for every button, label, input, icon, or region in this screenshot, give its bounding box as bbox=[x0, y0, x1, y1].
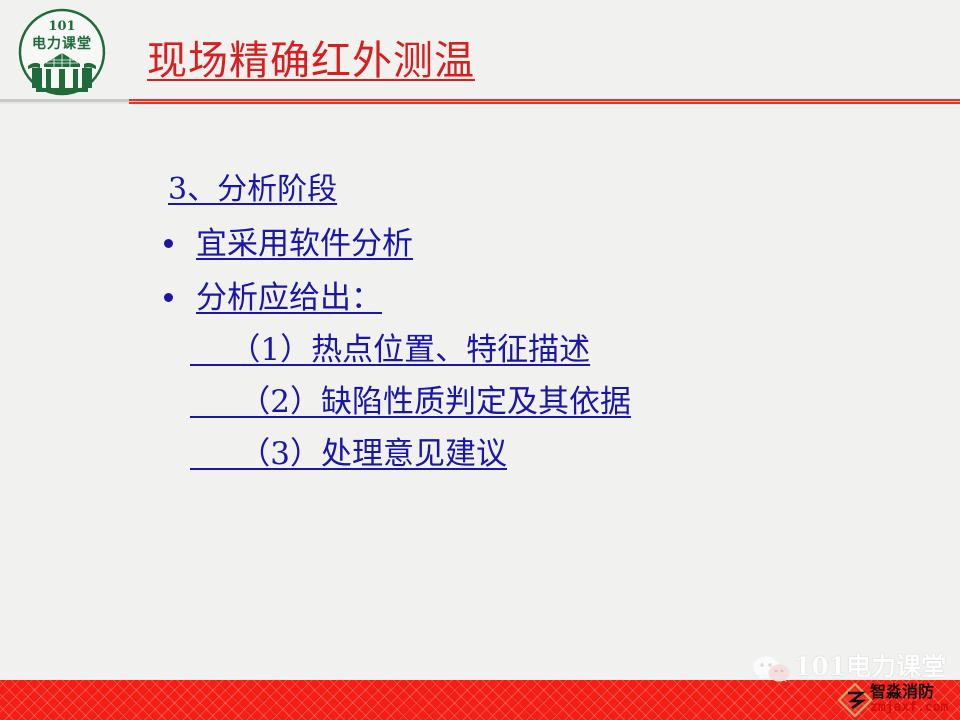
brand-url: zmjaxf.com bbox=[870, 700, 948, 716]
sub-item-2: （2）缺陷性质判定及其依据 bbox=[190, 382, 631, 422]
slide-header: 101 电力课堂 bbox=[0, 0, 960, 104]
header-divider-grey bbox=[0, 99, 129, 104]
sub-item-3: （3）处理意见建议 bbox=[190, 434, 507, 474]
diamond-logo-mark-icon bbox=[838, 683, 872, 717]
channel-watermark: 101电力课堂 bbox=[752, 652, 932, 686]
section-heading: 3、分析阶段 bbox=[168, 170, 337, 210]
wechat-icon bbox=[752, 656, 792, 682]
slide-canvas: 101 电力课堂 bbox=[0, 0, 960, 720]
institution-logo-icon: 101 电力课堂 bbox=[14, 8, 110, 96]
watermark-text: 101电力课堂 bbox=[794, 652, 946, 682]
svg-text:电力课堂: 电力课堂 bbox=[32, 35, 92, 52]
svg-text:101: 101 bbox=[48, 19, 75, 34]
brand-stamp: 智淼消防 zmjaxf.com bbox=[838, 682, 960, 718]
sub-item-1: （1）热点位置、特征描述 bbox=[190, 330, 590, 370]
bullet-text: 分析应给出： bbox=[196, 278, 382, 318]
footer-pattern-bar bbox=[0, 680, 960, 720]
page-title: 现场精确红外测温 bbox=[147, 38, 475, 85]
bullet-dot-icon bbox=[164, 293, 173, 302]
bullet-text: 宜采用软件分析 bbox=[196, 224, 413, 264]
brand-name-cn: 智淼消防 bbox=[870, 682, 934, 701]
bullet-dot-icon bbox=[164, 239, 173, 248]
header-divider-red bbox=[129, 98, 960, 105]
